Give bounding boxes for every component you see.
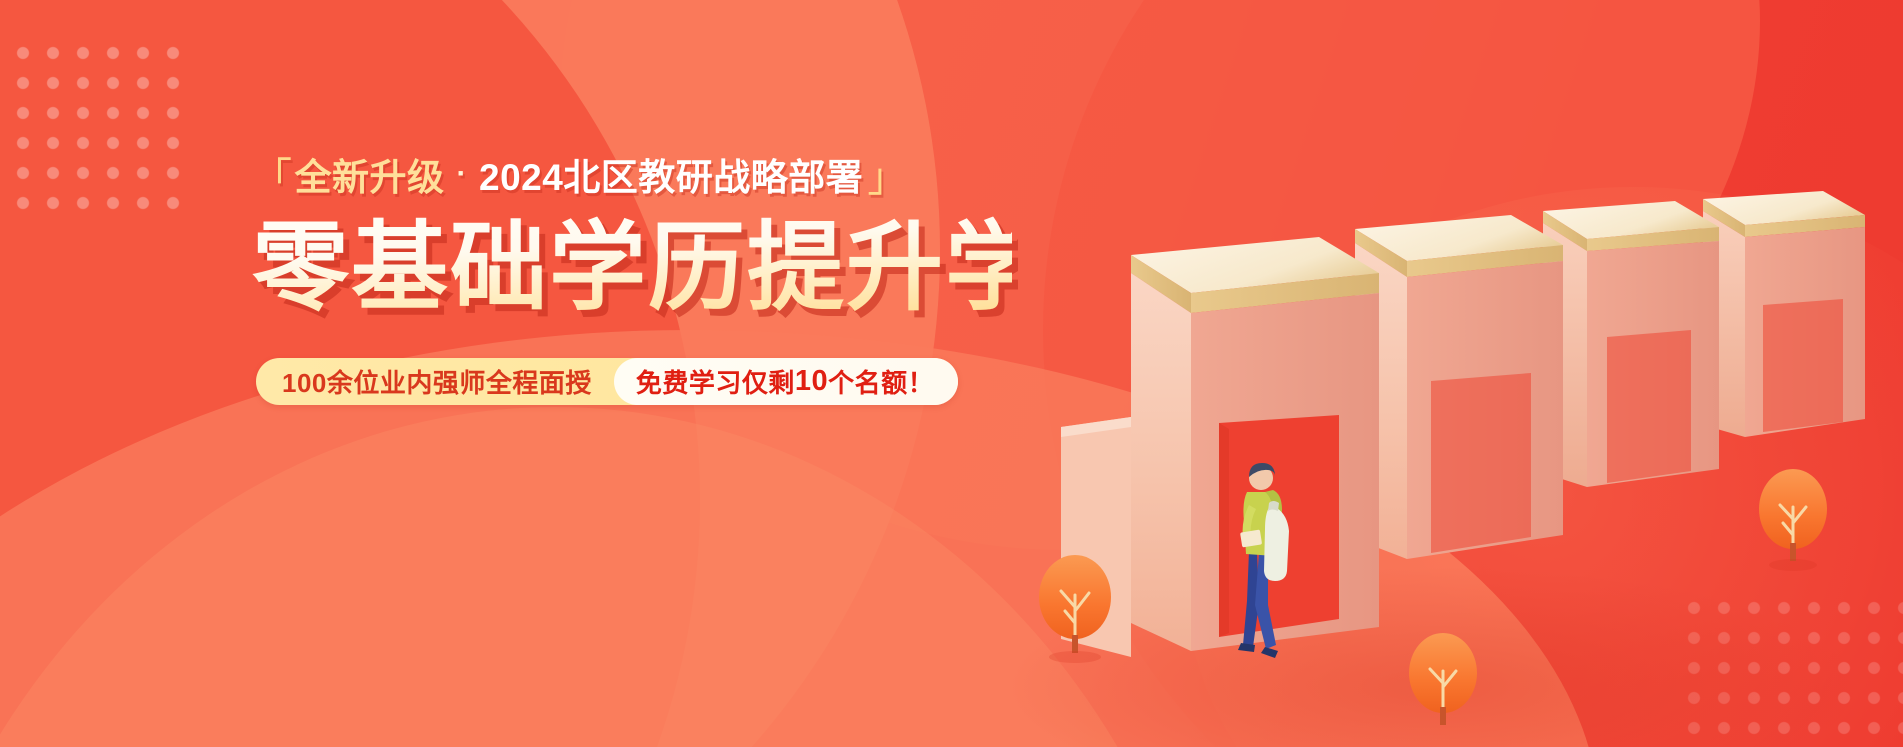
book-gate-4: [1703, 191, 1865, 437]
headline-block: 「 全新升级 · 2024北区教研战略部署 」 零基础学历提升学霸班: [252, 146, 1012, 321]
promo-banner: 「 全新升级 · 2024北区教研战略部署 」 零基础学历提升学霸班 100余位…: [0, 0, 1903, 747]
subtitle-highlight: 全新升级: [295, 147, 445, 201]
badge-right-capsule: 免费学习仅剩 10 个名额！: [614, 358, 958, 405]
tree-right: [1759, 469, 1827, 571]
book-gate-2: [1355, 215, 1563, 559]
badge-right-suffix: 个名额！: [828, 363, 934, 400]
bracket-open-icon: 「: [252, 145, 293, 203]
offer-badge[interactable]: 100余位业内强师全程面授 免费学习仅剩 10 个名额！: [256, 358, 958, 405]
badge-right-prefix: 免费学习仅剩: [636, 363, 795, 400]
dot-grid-top-left: [0, 30, 180, 220]
page-title: 零基础学历提升学霸班: [252, 216, 1012, 321]
subtitle-separator-dot: ·: [445, 157, 480, 191]
bracket-close-icon: 」: [867, 145, 908, 203]
badge-seats-remaining: 10: [795, 365, 828, 398]
book-gate-3: [1543, 201, 1719, 487]
subtitle-rest: 2024北区教研战略部署: [479, 147, 863, 201]
banner-subtitle: 「 全新升级 · 2024北区教研战略部署 」: [252, 146, 1012, 202]
badge-left-text: 100余位业内强师全程面授: [282, 363, 614, 400]
